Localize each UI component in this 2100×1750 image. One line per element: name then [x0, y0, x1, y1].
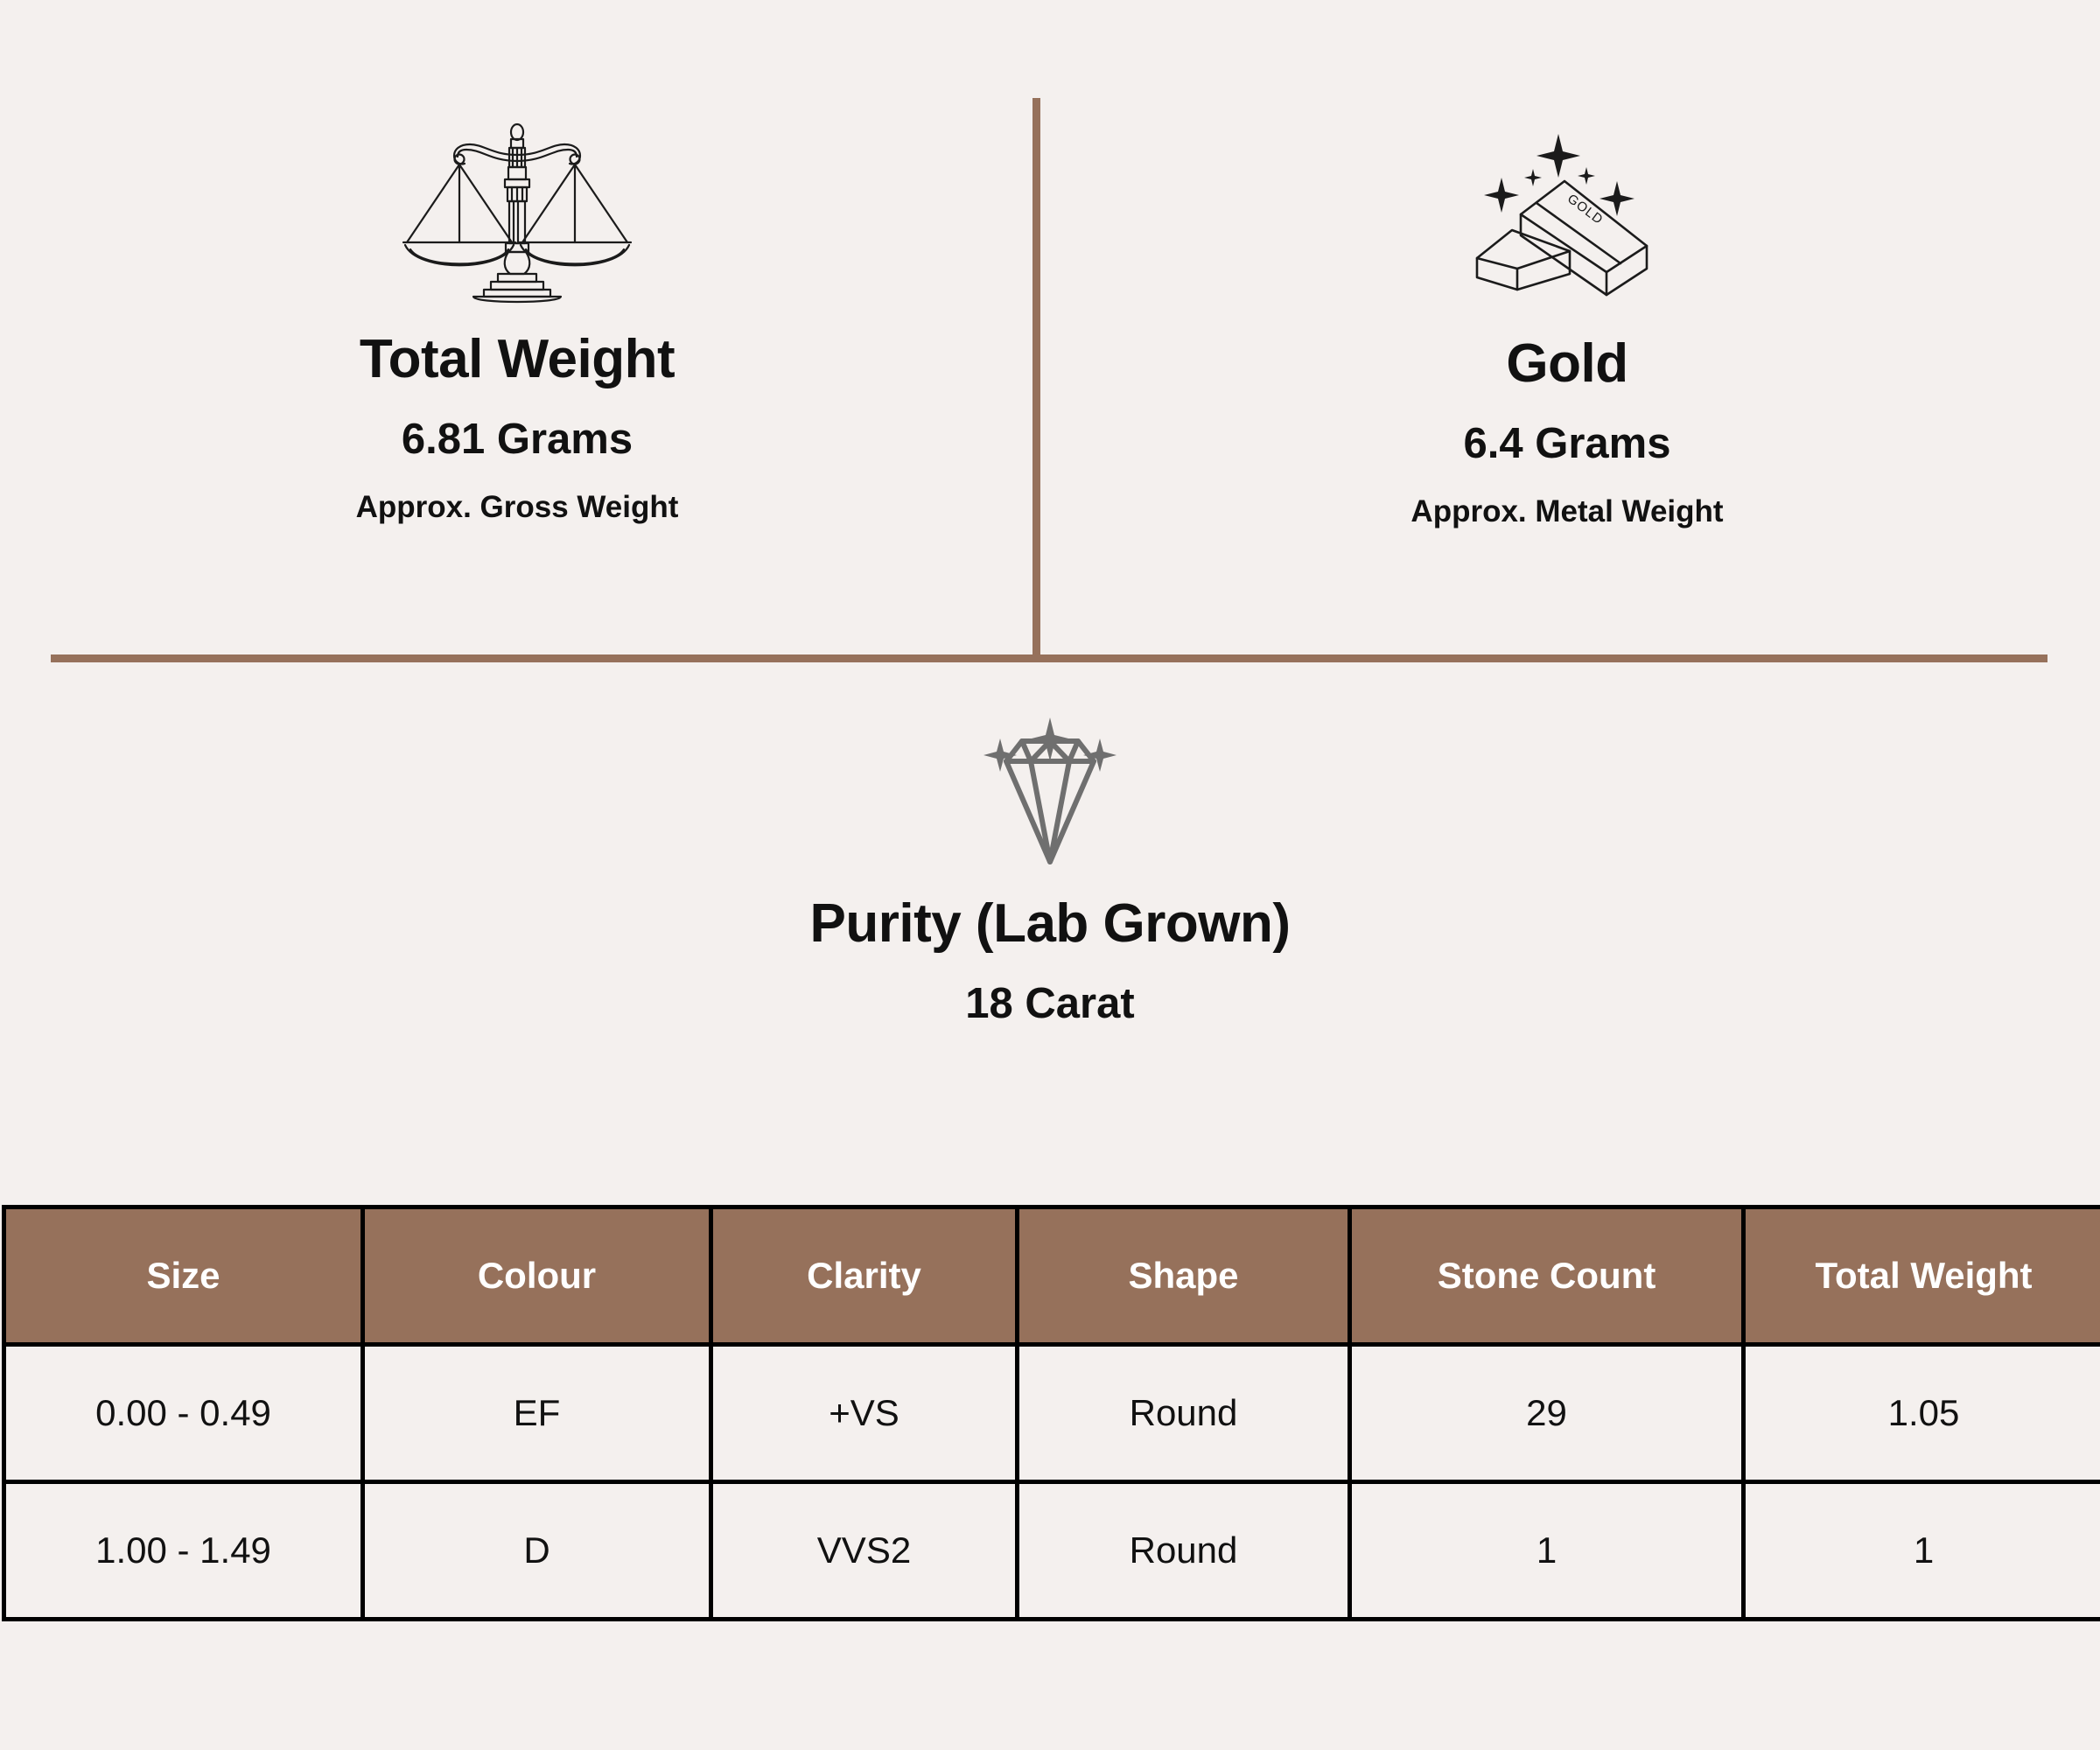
cell-colour: EF: [363, 1345, 711, 1482]
gold-bars-icon: GOLD: [1466, 0, 1668, 311]
cell-stone-count: 1: [1350, 1482, 1744, 1620]
metric-title: Total Weight: [360, 331, 675, 388]
column-header-shape: Shape: [1018, 1207, 1350, 1345]
diamond-icon: [971, 717, 1129, 871]
cell-total-weight: 1.05: [1744, 1345, 2100, 1482]
cell-shape: Round: [1018, 1345, 1350, 1482]
stone-spec-table: Size Colour Clarity Shape Stone Count To…: [2, 1205, 2100, 1621]
purity-title: Purity (Lab Grown): [810, 895, 1291, 952]
metric-value: 6.81 Grams: [402, 417, 633, 462]
cell-size: 0.00 - 0.49: [4, 1345, 363, 1482]
column-header-size: Size: [4, 1207, 363, 1345]
metric-note: Approx. Gross Weight: [356, 492, 679, 524]
column-header-stone-count: Stone Count: [1350, 1207, 1744, 1345]
column-header-total-weight: Total Weight: [1744, 1207, 2100, 1345]
metrics-section: Total Weight 6.81 Grams Approx. Gross We…: [0, 0, 2100, 658]
column-header-clarity: Clarity: [711, 1207, 1018, 1345]
balance-scale-icon: [386, 0, 648, 306]
vertical-divider: [1032, 98, 1040, 658]
cell-colour: D: [363, 1482, 711, 1620]
table-row: 1.00 - 1.49 D VVS2 Round 1 1: [4, 1482, 2100, 1620]
metric-value: 6.4 Grams: [1464, 422, 1671, 466]
table-row: 0.00 - 0.49 EF +VS Round 29 1.05: [4, 1345, 2100, 1482]
metric-note: Approx. Metal Weight: [1410, 496, 1723, 528]
cell-clarity: VVS2: [711, 1482, 1018, 1620]
column-header-colour: Colour: [363, 1207, 711, 1345]
cell-total-weight: 1: [1744, 1482, 2100, 1620]
horizontal-divider: [51, 654, 2047, 662]
cell-clarity: +VS: [711, 1345, 1018, 1482]
metric-card-total-weight: Total Weight 6.81 Grams Approx. Gross We…: [0, 0, 1034, 523]
cell-size: 1.00 - 1.49: [4, 1482, 363, 1620]
metric-title: Gold: [1506, 335, 1627, 392]
metric-card-gold: GOLD Gold 6.4 Grams Approx. Metal Weight: [1034, 0, 2100, 528]
purity-card: Purity (Lab Grown) 18 Carat: [0, 717, 2100, 1027]
table-header-row: Size Colour Clarity Shape Stone Count To…: [4, 1207, 2100, 1345]
cell-shape: Round: [1018, 1482, 1350, 1620]
cell-stone-count: 29: [1350, 1345, 1744, 1482]
purity-value: 18 Carat: [965, 982, 1134, 1026]
